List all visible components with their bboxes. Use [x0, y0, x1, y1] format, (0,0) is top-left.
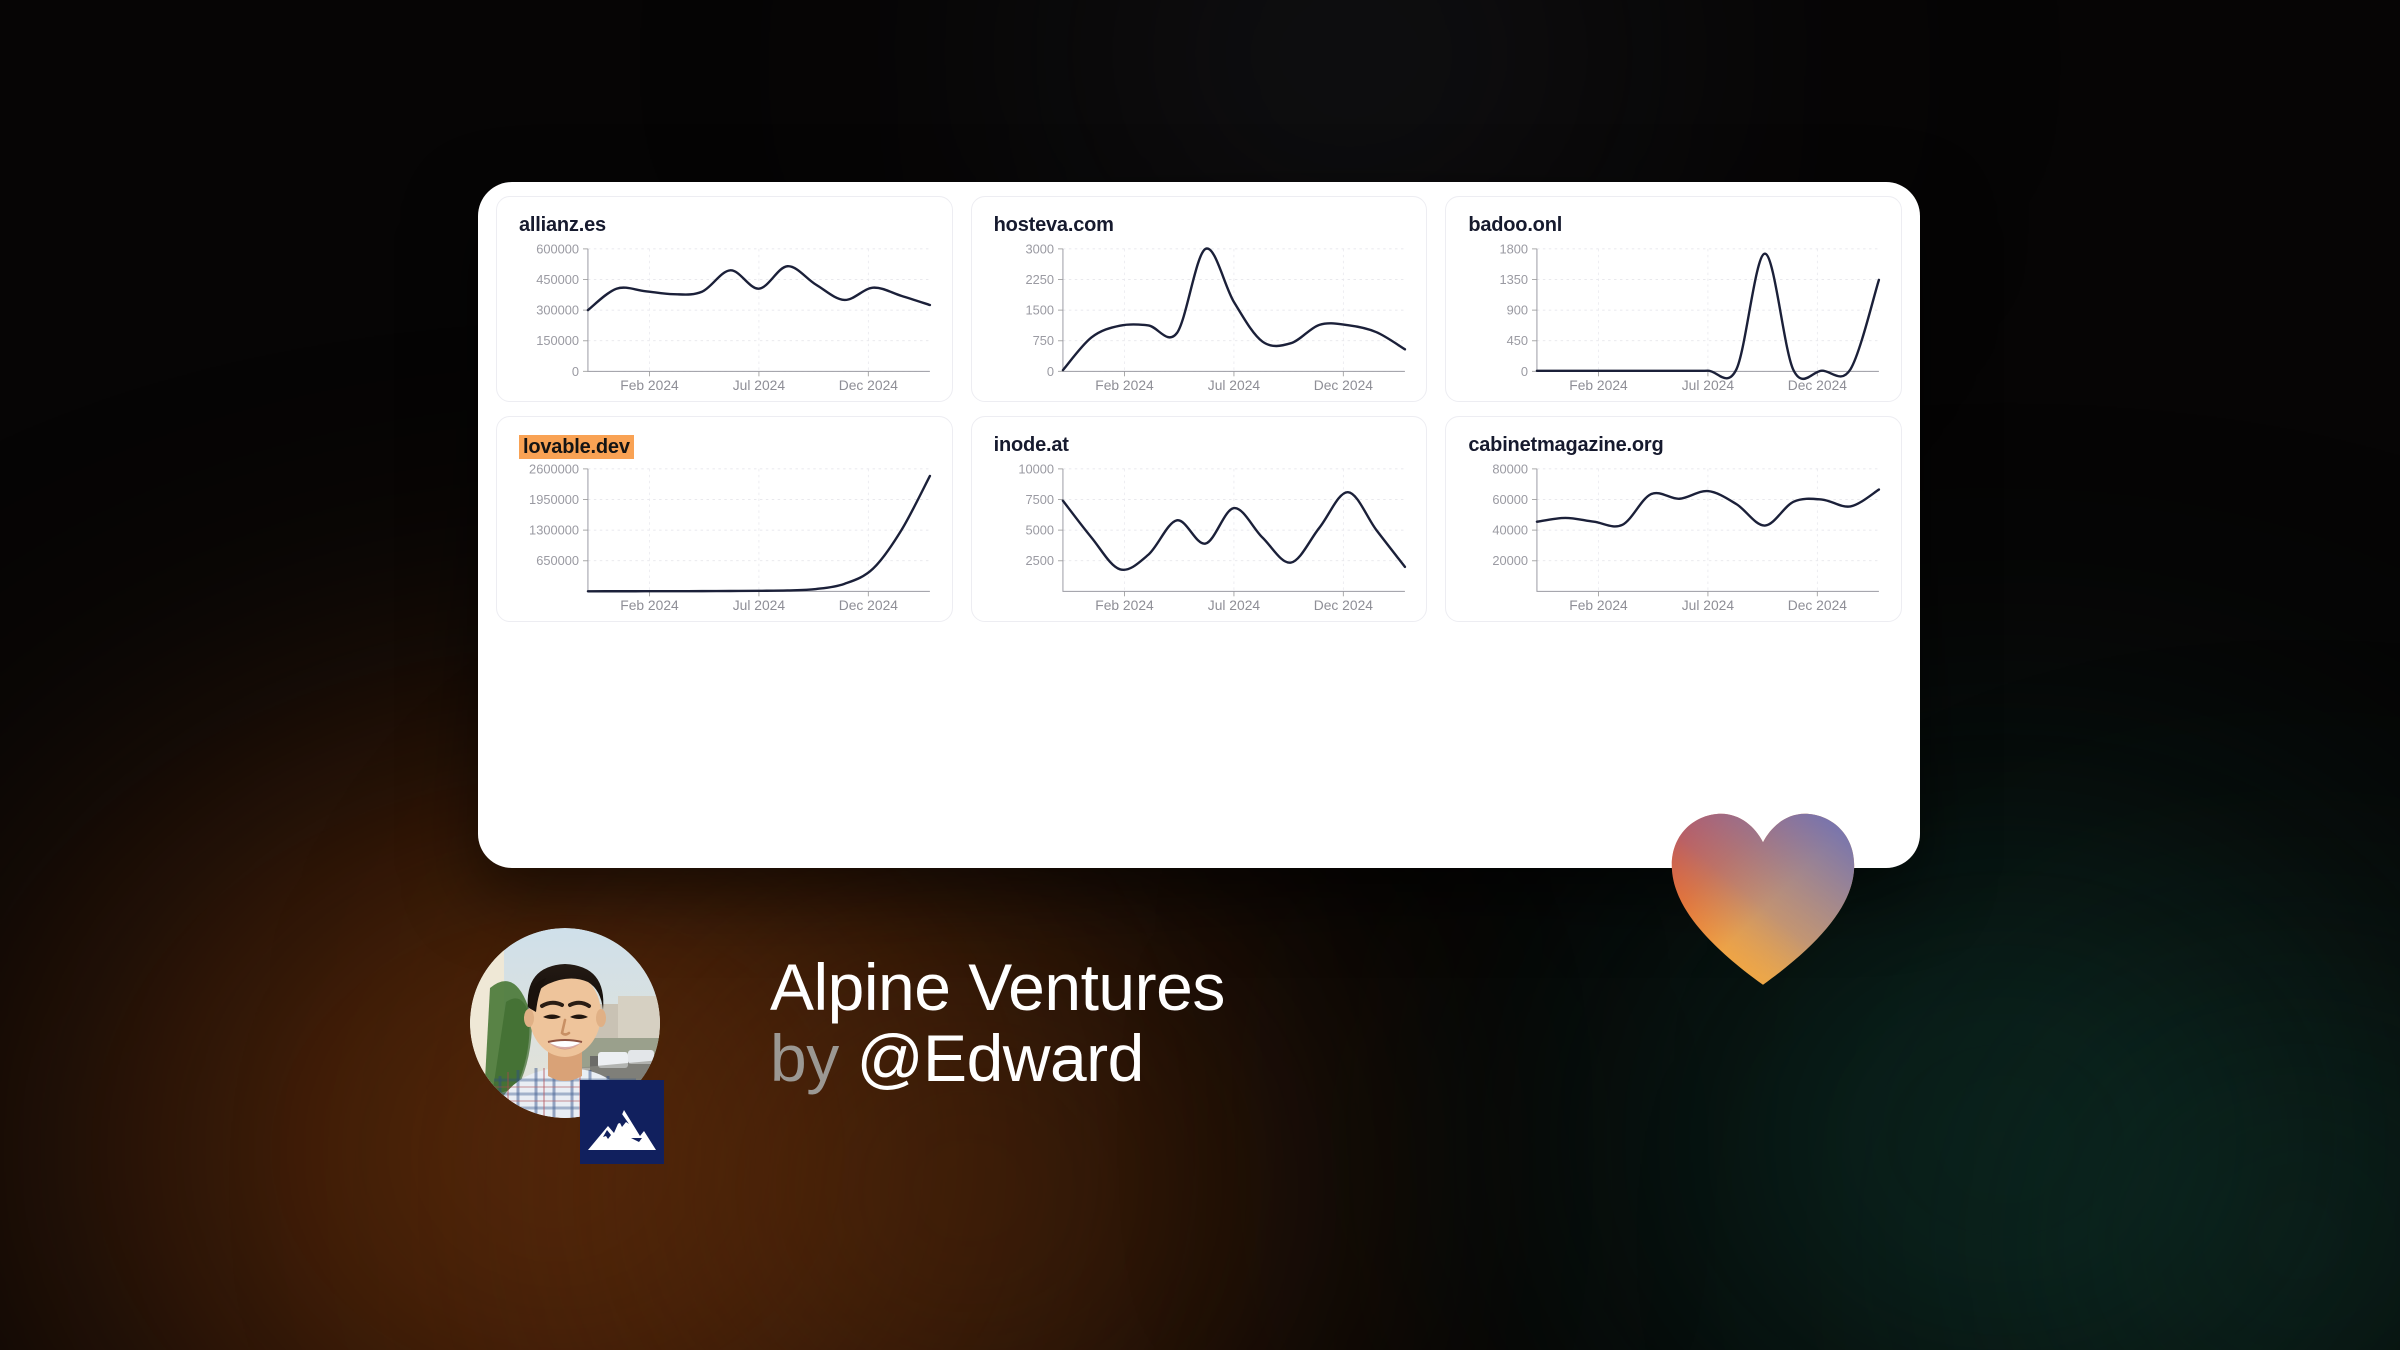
svg-text:1300000: 1300000	[529, 523, 579, 538]
chart-line	[1537, 490, 1879, 527]
chart-plot: 650000130000019500002600000Feb 2024Jul 2…	[497, 461, 952, 621]
chart-title: hosteva.com	[994, 215, 1114, 235]
svg-text:1800: 1800	[1500, 241, 1529, 256]
svg-text:Jul 2024: Jul 2024	[1682, 597, 1735, 613]
svg-text:2600000: 2600000	[529, 461, 579, 476]
svg-text:20000: 20000	[1493, 553, 1529, 568]
svg-text:1500: 1500	[1025, 303, 1054, 318]
brand-subtitle: by @Edward	[770, 1023, 1225, 1094]
chart-plot: 25005000750010000Feb 2024Jul 2024Dec 202…	[972, 461, 1427, 621]
svg-text:80000: 80000	[1493, 461, 1529, 476]
svg-text:Dec 2024: Dec 2024	[1313, 597, 1373, 613]
svg-text:450: 450	[1507, 333, 1528, 348]
chart-card[interactable]: hosteva.com0750150022503000Feb 2024Jul 2…	[971, 196, 1428, 402]
svg-text:Dec 2024: Dec 2024	[1788, 597, 1848, 613]
chart-plot: 0750150022503000Feb 2024Jul 2024Dec 2024	[972, 241, 1427, 401]
dashboard-screenshot-card[interactable]: allianz.es0150000300000450000600000Feb 2…	[478, 182, 1920, 868]
svg-text:0: 0	[572, 364, 579, 379]
svg-text:150000: 150000	[536, 333, 579, 348]
avatar-with-badge	[470, 928, 660, 1118]
chart-title: cabinetmagazine.org	[1468, 435, 1663, 455]
brand-title: Alpine Ventures	[770, 952, 1225, 1023]
svg-text:Jul 2024: Jul 2024	[1207, 377, 1260, 393]
svg-text:Jul 2024: Jul 2024	[1207, 597, 1260, 613]
svg-text:0: 0	[1047, 364, 1054, 379]
chart-plot: 0150000300000450000600000Feb 2024Jul 202…	[497, 241, 952, 401]
svg-text:750: 750	[1032, 333, 1053, 348]
svg-text:Feb 2024: Feb 2024	[1095, 597, 1154, 613]
svg-text:2250: 2250	[1025, 272, 1054, 287]
svg-text:3000: 3000	[1025, 241, 1054, 256]
svg-text:600000: 600000	[536, 241, 579, 256]
chart-card[interactable]: inode.at25005000750010000Feb 2024Jul 202…	[971, 416, 1428, 622]
svg-text:10000: 10000	[1018, 461, 1054, 476]
svg-text:60000: 60000	[1493, 492, 1529, 507]
branding-text: Alpine Ventures by @Edward	[770, 952, 1225, 1095]
svg-text:1350: 1350	[1500, 272, 1529, 287]
svg-text:Jul 2024: Jul 2024	[733, 597, 786, 613]
svg-text:Feb 2024: Feb 2024	[1570, 377, 1629, 393]
chart-title: inode.at	[994, 435, 1069, 455]
chart-title: badoo.onl	[1468, 215, 1562, 235]
chart-title: lovable.dev	[519, 435, 634, 459]
svg-text:Jul 2024: Jul 2024	[1682, 377, 1735, 393]
svg-text:5000: 5000	[1025, 523, 1054, 538]
chart-card[interactable]: lovable.dev650000130000019500002600000Fe…	[496, 416, 953, 622]
branding-footer: Alpine Ventures by @Edward	[470, 928, 1225, 1118]
svg-text:Feb 2024: Feb 2024	[1570, 597, 1629, 613]
chart-plot: 20000400006000080000Feb 2024Jul 2024Dec …	[1446, 461, 1901, 621]
svg-text:Dec 2024: Dec 2024	[1313, 377, 1373, 393]
svg-text:Feb 2024: Feb 2024	[1095, 377, 1154, 393]
svg-text:Dec 2024: Dec 2024	[839, 597, 899, 613]
svg-text:300000: 300000	[536, 303, 579, 318]
svg-text:650000: 650000	[536, 553, 579, 568]
mountain-logo	[580, 1080, 664, 1164]
svg-text:Jul 2024: Jul 2024	[733, 377, 786, 393]
svg-text:40000: 40000	[1493, 523, 1529, 538]
svg-text:Feb 2024: Feb 2024	[620, 597, 679, 613]
svg-text:2500: 2500	[1025, 553, 1054, 568]
chart-plot: 045090013501800Feb 2024Jul 2024Dec 2024	[1446, 241, 1901, 401]
chart-card[interactable]: cabinetmagazine.org20000400006000080000F…	[1445, 416, 1902, 622]
svg-text:1950000: 1950000	[529, 492, 579, 507]
brand-handle: @Edward	[857, 1021, 1144, 1095]
chart-title: allianz.es	[519, 215, 606, 235]
svg-text:0: 0	[1521, 364, 1528, 379]
chart-grid: allianz.es0150000300000450000600000Feb 2…	[478, 182, 1920, 868]
svg-text:7500: 7500	[1025, 492, 1054, 507]
chart-card[interactable]: allianz.es0150000300000450000600000Feb 2…	[496, 196, 953, 402]
svg-text:Dec 2024: Dec 2024	[1788, 377, 1848, 393]
svg-text:450000: 450000	[536, 272, 579, 287]
svg-text:900: 900	[1507, 303, 1528, 318]
heart-icon	[1668, 810, 1858, 990]
chart-card[interactable]: badoo.onl045090013501800Feb 2024Jul 2024…	[1445, 196, 1902, 402]
svg-text:Feb 2024: Feb 2024	[620, 377, 679, 393]
svg-text:Dec 2024: Dec 2024	[839, 377, 899, 393]
brand-by-label: by	[770, 1021, 839, 1095]
